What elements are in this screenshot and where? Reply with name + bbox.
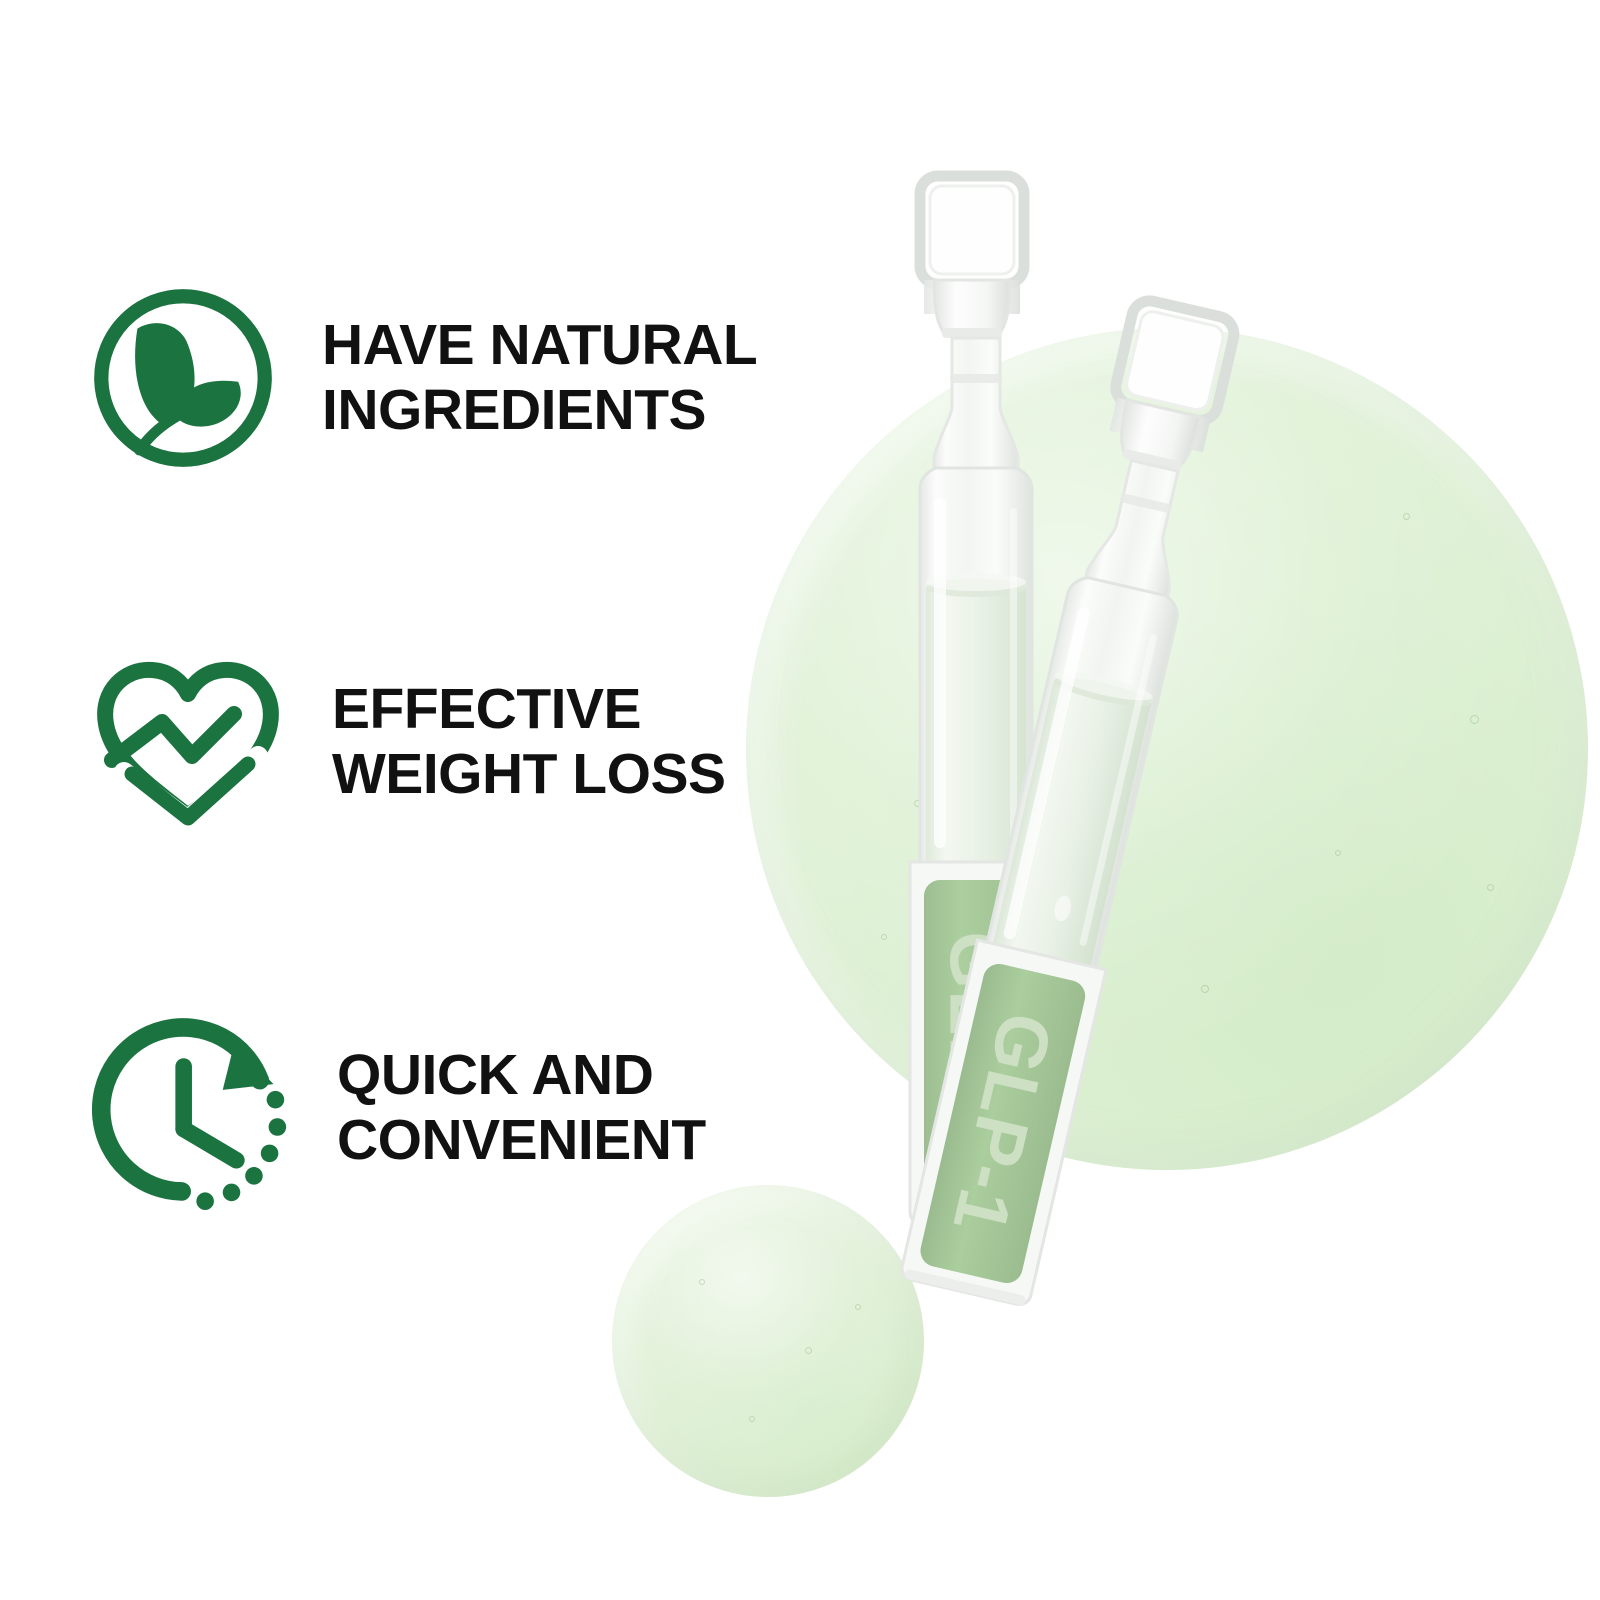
heart-pulse-icon (88, 652, 288, 832)
clock-arrow-icon (88, 1000, 293, 1215)
product-scene: GLP-1 (560, 0, 1600, 1600)
product-feature-poster: HAVE NATURAL INGREDIENTS EFFECTIVE WEIGH… (0, 0, 1600, 1600)
gel-droplet-blob (612, 1185, 924, 1497)
leaf-in-circle-icon (88, 283, 278, 473)
